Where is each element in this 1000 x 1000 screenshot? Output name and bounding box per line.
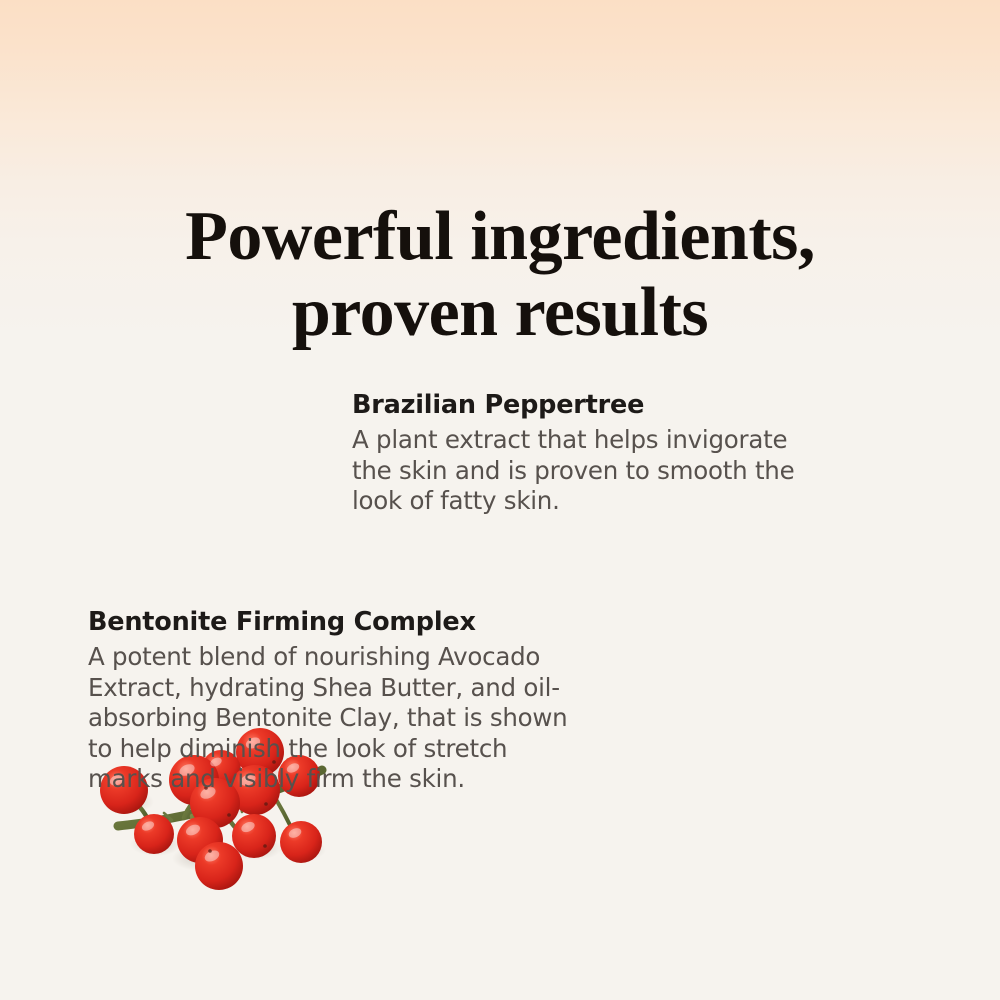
ingredients-poster: Powerful ingredients, proven results	[0, 0, 1000, 1000]
ingredient-title: Bentonite Firming Complex	[88, 607, 708, 638]
ingredient-description: A plant extract that helps invigorate th…	[352, 425, 912, 517]
ingredient-text-brazilian-peppertree: Brazilian Peppertree A plant extract tha…	[352, 390, 912, 517]
ingredient-row-bentonite-firming-complex: Bentonite Firming Complex A potent blend…	[0, 580, 1000, 820]
ingredient-title: Brazilian Peppertree	[352, 390, 912, 421]
ingredient-description: A potent blend of nourishing Avocado Ext…	[88, 642, 708, 795]
page-title: Powerful ingredients, proven results	[0, 199, 1000, 351]
ingredient-text-bentonite-firming-complex: Bentonite Firming Complex A potent blend…	[88, 607, 708, 795]
ingredient-row-brazilian-peppertree: Brazilian Peppertree A plant extract tha…	[0, 360, 1000, 540]
